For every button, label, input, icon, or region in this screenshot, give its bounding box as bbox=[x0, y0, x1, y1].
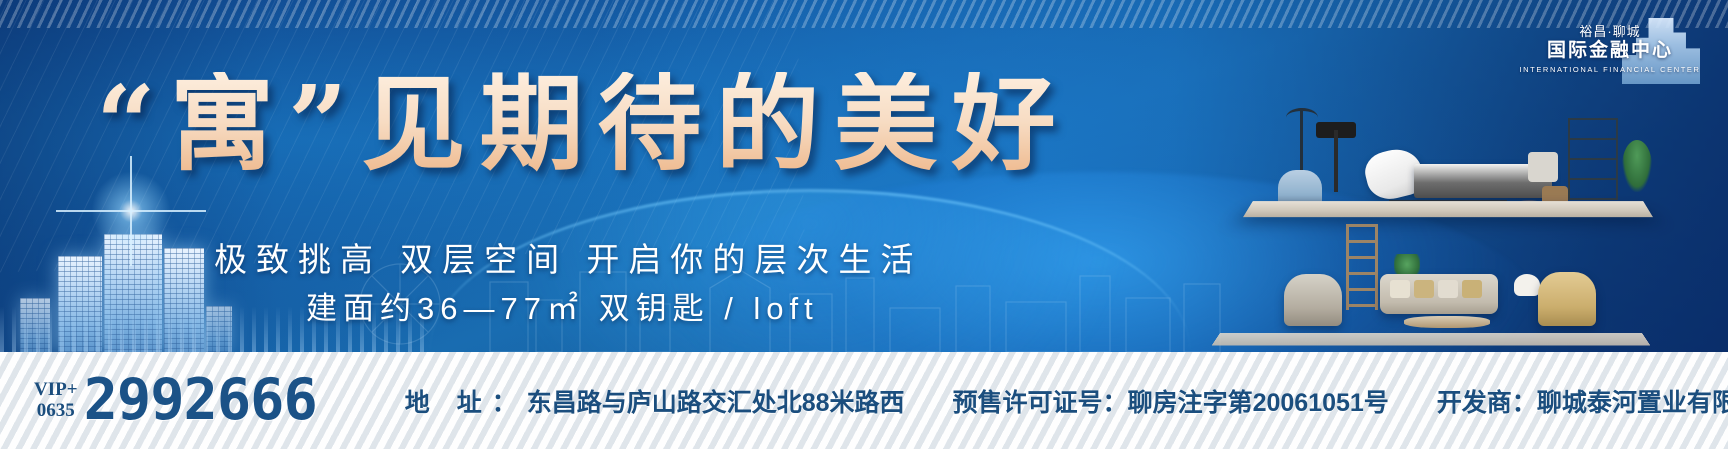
bed-headboard-icon bbox=[1528, 152, 1558, 182]
pillow-icon bbox=[1390, 280, 1410, 298]
developer-label: 开发商： bbox=[1437, 389, 1537, 417]
hero-artwork: 裕昌·聊城 国际金融中心 INTERNATIONAL FINANCIAL CEN… bbox=[0, 0, 1728, 352]
logo-name-english: INTERNATIONAL FINANCIAL CENTER bbox=[1514, 65, 1706, 74]
plant-icon bbox=[1622, 140, 1652, 192]
subtitle-primary: 极致挑高 双层空间 开启你的层次生活 bbox=[214, 233, 922, 281]
lower-floor-slab bbox=[1212, 333, 1651, 346]
floor-lamp-icon bbox=[1334, 130, 1338, 192]
grey-armchair-icon bbox=[1284, 274, 1342, 326]
logo-subbrand: 裕昌·聊城 bbox=[1514, 24, 1706, 40]
pillow-icon bbox=[1462, 280, 1482, 298]
coffee-table-icon bbox=[1404, 316, 1490, 328]
bookshelf-icon bbox=[1568, 118, 1618, 200]
developer-item: 开发商：聊城泰河置业有限公司 bbox=[1437, 383, 1728, 419]
address-value: 东昌路与庐山路交汇处北88米路西 bbox=[527, 389, 905, 417]
pillow-icon bbox=[1438, 280, 1458, 298]
address-label: 地 址： bbox=[405, 389, 527, 417]
footer-info-bar: VIP+ 0635 2992666 地 址：东昌路与庐山路交汇处北88米路西 预… bbox=[0, 352, 1728, 449]
table-lamp-icon bbox=[1514, 274, 1540, 296]
headline: “寓”见期待的美好 bbox=[96, 72, 1070, 176]
gold-armchair-icon bbox=[1538, 272, 1596, 326]
loft-interior-illustration bbox=[1098, 78, 1658, 348]
project-logo: 裕昌·聊城 国际金融中心 INTERNATIONAL FINANCIAL CEN… bbox=[1514, 24, 1706, 74]
license-item: 预售许可证号：聊房注字第20061051号 bbox=[953, 383, 1389, 419]
license-label: 预售许可证号： bbox=[953, 389, 1128, 417]
developer-value: 聊城泰河置业有限公司 bbox=[1537, 389, 1728, 417]
phone-block[interactable]: VIP+ 0635 2992666 bbox=[34, 372, 317, 429]
area-code: 0635 bbox=[37, 401, 75, 422]
top-hatch-strip bbox=[0, 0, 1728, 28]
upper-floor-slab bbox=[1243, 201, 1653, 217]
address-item: 地 址：东昌路与庐山路交汇处北88米路西 bbox=[405, 383, 905, 419]
subtitle-secondary: 建面约36—77㎡ 双钥匙 / loft bbox=[306, 283, 819, 328]
ladder-icon bbox=[1346, 224, 1378, 310]
phone-number[interactable]: 2992666 bbox=[84, 372, 317, 429]
advertising-banner: 裕昌·聊城 国际金融中心 INTERNATIONAL FINANCIAL CEN… bbox=[0, 0, 1728, 449]
pillow-icon bbox=[1414, 280, 1434, 298]
logo-name: 国际金融中心 bbox=[1514, 40, 1706, 63]
vip-label: VIP+ bbox=[34, 380, 78, 401]
vip-area-code-stack: VIP+ 0635 bbox=[34, 380, 78, 422]
license-value: 聊房注字第20061051号 bbox=[1128, 389, 1389, 417]
